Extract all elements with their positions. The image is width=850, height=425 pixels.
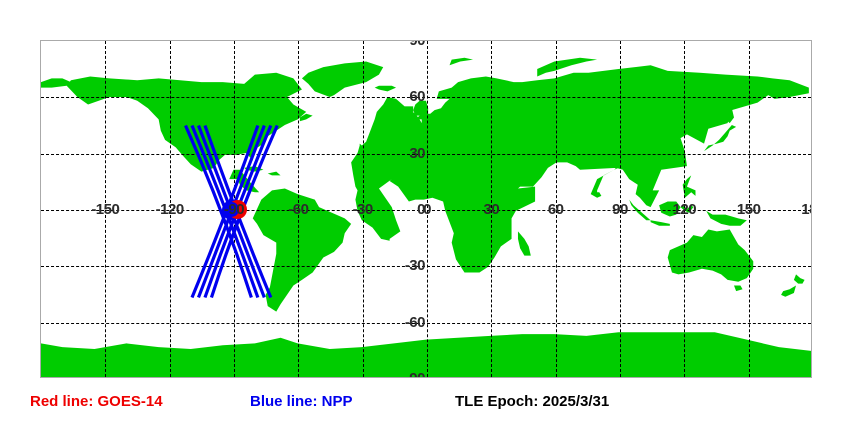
lon-tick-120: 120 [654, 201, 714, 218]
lon-tick--150: -150 [75, 201, 135, 218]
lat-tick--30: -30 [369, 257, 425, 274]
lon-tick--60: -60 [268, 201, 328, 218]
lat-tick-90: 90 [369, 40, 425, 49]
lon-tick--90: -90 [204, 201, 264, 218]
gridline-lat--60 [41, 323, 811, 324]
lon-tick-60: 60 [526, 201, 586, 218]
lon-tick-180: 180 [783, 201, 812, 218]
legend-npp-label: Blue line: NPP [250, 393, 353, 410]
legend-goes14-label: Red line: GOES-14 [30, 393, 163, 410]
legend-caption: Red line: GOES-14 Blue line: NPP TLE Epo… [0, 393, 850, 421]
lon-tick-90: 90 [590, 201, 650, 218]
lon-tick-150: 150 [719, 201, 779, 218]
lon-tick--30: -30 [333, 201, 393, 218]
lon-tick-0: 0 [397, 201, 457, 218]
map-plot-area: 9060300-30-60-90-300306090120150180-150-… [40, 40, 812, 378]
gridline-lat-30 [41, 154, 811, 155]
gridline-lat-60 [41, 97, 811, 98]
lat-tick--90: -90 [369, 370, 425, 378]
gridline-lat--30 [41, 266, 811, 267]
legend-tle-epoch: TLE Epoch: 2025/3/31 [455, 393, 609, 410]
lon-tick-30: 30 [461, 201, 521, 218]
lon-tick--120: -120 [140, 201, 200, 218]
lat-tick--60: -60 [369, 314, 425, 331]
lat-tick-60: 60 [369, 88, 425, 105]
satellite-track-map: 9060300-30-60-90-300306090120150180-150-… [0, 0, 850, 425]
lat-tick-30: 30 [369, 145, 425, 162]
